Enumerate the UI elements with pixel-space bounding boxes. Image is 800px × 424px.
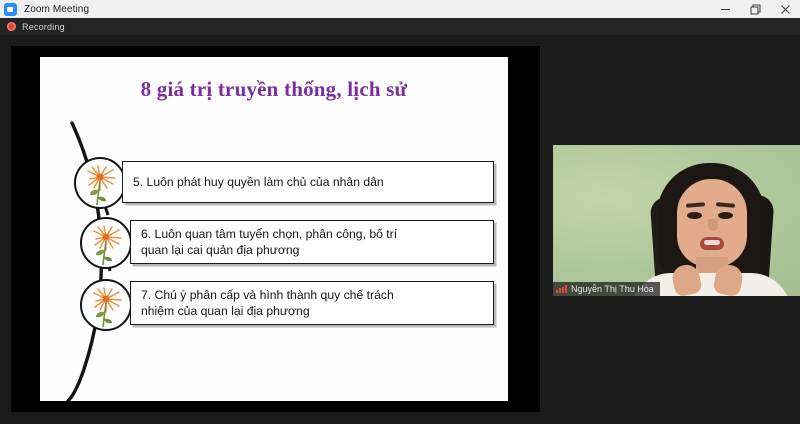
- slide-item-callout: 5. Luôn phát huy quyền làm chủ của nhân …: [122, 161, 494, 203]
- window-controls: [710, 0, 800, 18]
- eye-left: [687, 212, 702, 219]
- chrysanthemum-flower-icon: [80, 279, 132, 331]
- slide-item-text: 7. Chú ý phân cấp và hình thành quy chế …: [141, 287, 394, 320]
- close-button[interactable]: [770, 0, 800, 18]
- slide-item-callout: 6. Luôn quan tâm tuyển chọn, phân công, …: [130, 220, 494, 264]
- slide-item-text: 5. Luôn phát huy quyền làm chủ của nhân …: [133, 174, 384, 190]
- mouth: [700, 237, 724, 250]
- minimize-button[interactable]: [710, 0, 740, 18]
- record-icon: [7, 22, 16, 31]
- presentation-slide: 8 giá trị truyền thống, lịch sử: [40, 57, 508, 401]
- recording-label: Recording: [22, 22, 65, 32]
- meeting-stage: 8 giá trị truyền thống, lịch sử: [0, 35, 800, 424]
- slide-item-callout: 7. Chú ý phân cấp và hình thành quy chế …: [130, 281, 494, 325]
- nose: [708, 219, 718, 231]
- restore-button[interactable]: [740, 0, 770, 18]
- chrysanthemum-flower-icon: [80, 217, 132, 269]
- slide-item-text: 6. Luôn quan tâm tuyển chọn, phân công, …: [141, 226, 397, 259]
- eye-right: [718, 212, 733, 219]
- chrysanthemum-flower-icon: [74, 157, 126, 209]
- window-title: Zoom Meeting: [24, 4, 89, 15]
- participant-name: Nguyễn Thị Thu Hòa: [571, 284, 654, 294]
- shared-screen-region[interactable]: 8 giá trị truyền thống, lịch sử: [11, 46, 540, 412]
- recording-bar[interactable]: Recording: [0, 18, 800, 35]
- zoom-logo-icon: [4, 3, 17, 16]
- participant-video-tile[interactable]: Nguyễn Thị Thu Hòa: [553, 145, 800, 296]
- window-titlebar[interactable]: Zoom Meeting: [0, 0, 800, 18]
- participant-name-badge: Nguyễn Thị Thu Hòa: [553, 282, 660, 296]
- signal-strength-icon: [556, 285, 567, 293]
